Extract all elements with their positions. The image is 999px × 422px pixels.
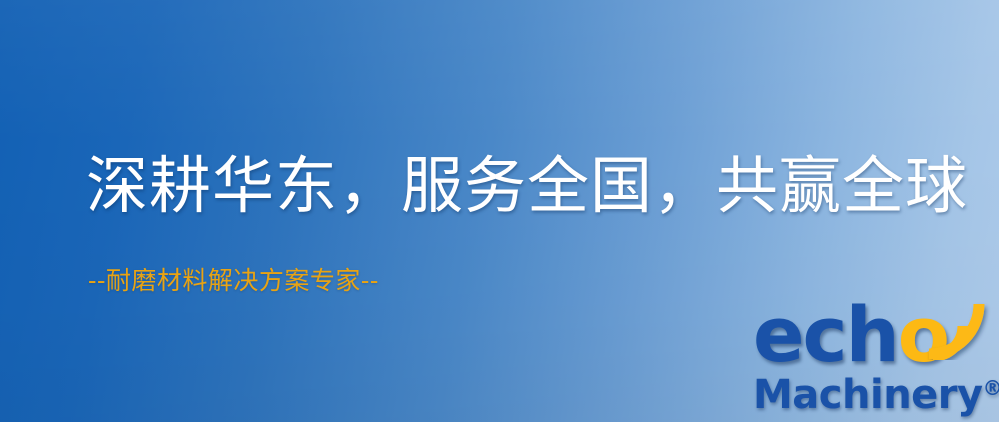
page-subtitle: --耐磨材料解决方案专家-- (88, 265, 379, 297)
echo-wave-arcs-icon (923, 298, 999, 360)
logo-wordmark: echo (753, 296, 999, 374)
logo-brand-label: Machinery (753, 372, 983, 418)
registered-trademark-icon: ® (983, 376, 999, 400)
company-logo[interactable]: echo Machinery® (745, 288, 999, 422)
logo-echo-text: echo (753, 296, 948, 374)
logo-brand-text: Machinery® (753, 364, 999, 419)
page-title: 深耕华东，服务全国，共赢全球 (86, 150, 946, 222)
hero-banner: 深耕华东，服务全国，共赢全球 --耐磨材料解决方案专家-- echo Machi… (0, 0, 999, 422)
